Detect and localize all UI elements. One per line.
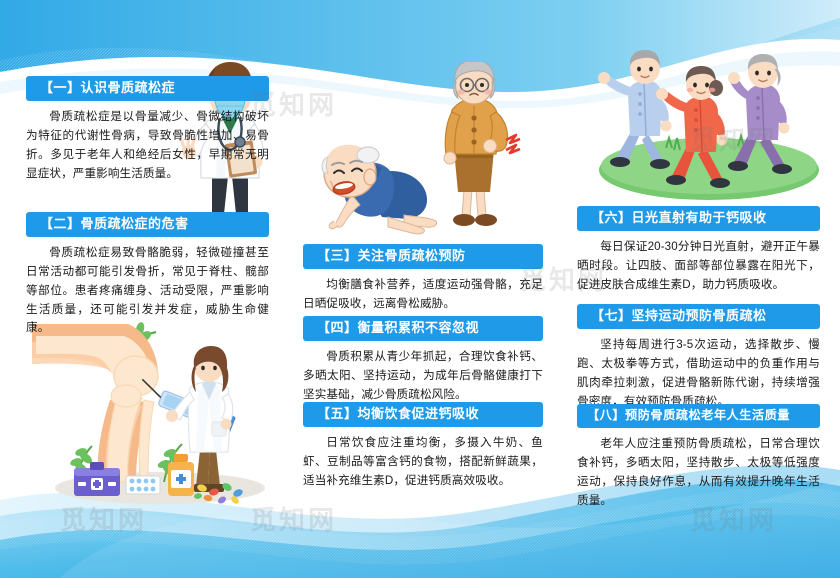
- section-5: 【五】均衡饮食促进钙吸收 日常饮食应注重均衡，多摄入牛奶、鱼虾、豆制品等富含钙的…: [303, 402, 543, 491]
- section-8: 【八】预防骨质疏松老年人生活质量 老年人应注重预防骨质疏松，日常合理饮食补钙，多…: [577, 404, 820, 511]
- section-8-title: 【八】预防骨质疏松老年人生活质量: [577, 404, 820, 428]
- section-5-body: 日常饮食应注重均衡，多摄入牛奶、鱼虾、豆制品等富含钙的食物，搭配新鲜蔬果，适当补…: [303, 434, 543, 490]
- section-1: 【一】认识骨质疏松症 骨质疏松症是以骨量减少、骨微结构破坏为特征的代谢性骨病，导…: [26, 76, 269, 183]
- section-2-title: 【二】骨质疏松症的危害: [26, 212, 269, 237]
- seniors-taichi-group-illustration: [588, 50, 830, 202]
- section-1-title: 【一】认识骨质疏松症: [26, 76, 269, 101]
- section-4-title: 【四】衡量积累积不容忽视: [303, 316, 543, 341]
- section-2: 【二】骨质疏松症的危害 骨质疏松症易致骨骼脆弱，轻微碰撞甚至日常活动都可能引发骨…: [26, 212, 269, 338]
- section-3-body: 均衡膳食补营养，适度运动强骨骼，充足日晒促吸收，远离骨松威胁。: [303, 276, 543, 314]
- elderly-man-fallen-illustration: [312, 133, 440, 243]
- section-6: 【六】日光直射有助于钙吸收 每日保证20-30分钟日光直射，避开正午暴晒时段。让…: [577, 206, 820, 295]
- poster-canvas: 【一】认识骨质疏松症 骨质疏松症是以骨量减少、骨微结构破坏为特征的代谢性骨病，导…: [0, 0, 840, 578]
- knee-joint-injection-illustration: [32, 312, 280, 510]
- section-3: 【三】关注骨质疏松预防 均衡膳食补营养，适度运动强骨骼，充足日晒促吸收，远离骨松…: [303, 244, 543, 314]
- section-7-title: 【七】坚持运动预防骨质疏松: [577, 304, 820, 329]
- section-4: 【四】衡量积累积不容忽视 骨质积累从青少年抓起，合理饮食补钙、多晒太阳、坚持运动…: [303, 316, 543, 405]
- section-6-title: 【六】日光直射有助于钙吸收: [577, 206, 820, 231]
- section-4-body: 骨质积累从青少年抓起，合理饮食补钙、多晒太阳、坚持运动，为成年后骨骼健康打下坚实…: [303, 348, 543, 404]
- section-7-body: 坚持每周进行3-5次运动，选择散步、慢跑、太极拳等方式，借助运动中的负重作用与肌…: [577, 336, 820, 411]
- section-7: 【七】坚持运动预防骨质疏松 坚持每周进行3-5次运动，选择散步、慢跑、太极拳等方…: [577, 304, 820, 411]
- section-2-body: 骨质疏松症易致骨骼脆弱，轻微碰撞甚至日常活动都可能引发骨折，常见于脊柱、髋部等部…: [26, 244, 269, 338]
- section-1-body: 骨质疏松症是以骨量减少、骨微结构破坏为特征的代谢性骨病，导致骨脆性增加、易骨折。…: [26, 108, 269, 183]
- section-8-body: 老年人应注重预防骨质疏松，日常合理饮食补钙，多晒太阳，坚持散步、太极等低强度运动…: [577, 435, 820, 510]
- elderly-woman-back-pain-illustration: [428, 62, 524, 238]
- section-5-title: 【五】均衡饮食促进钙吸收: [303, 402, 543, 427]
- section-3-title: 【三】关注骨质疏松预防: [303, 244, 543, 269]
- section-6-body: 每日保证20-30分钟日光直射，避开正午暴晒时段。让四肢、面部等部位暴露在阳光下…: [577, 238, 820, 294]
